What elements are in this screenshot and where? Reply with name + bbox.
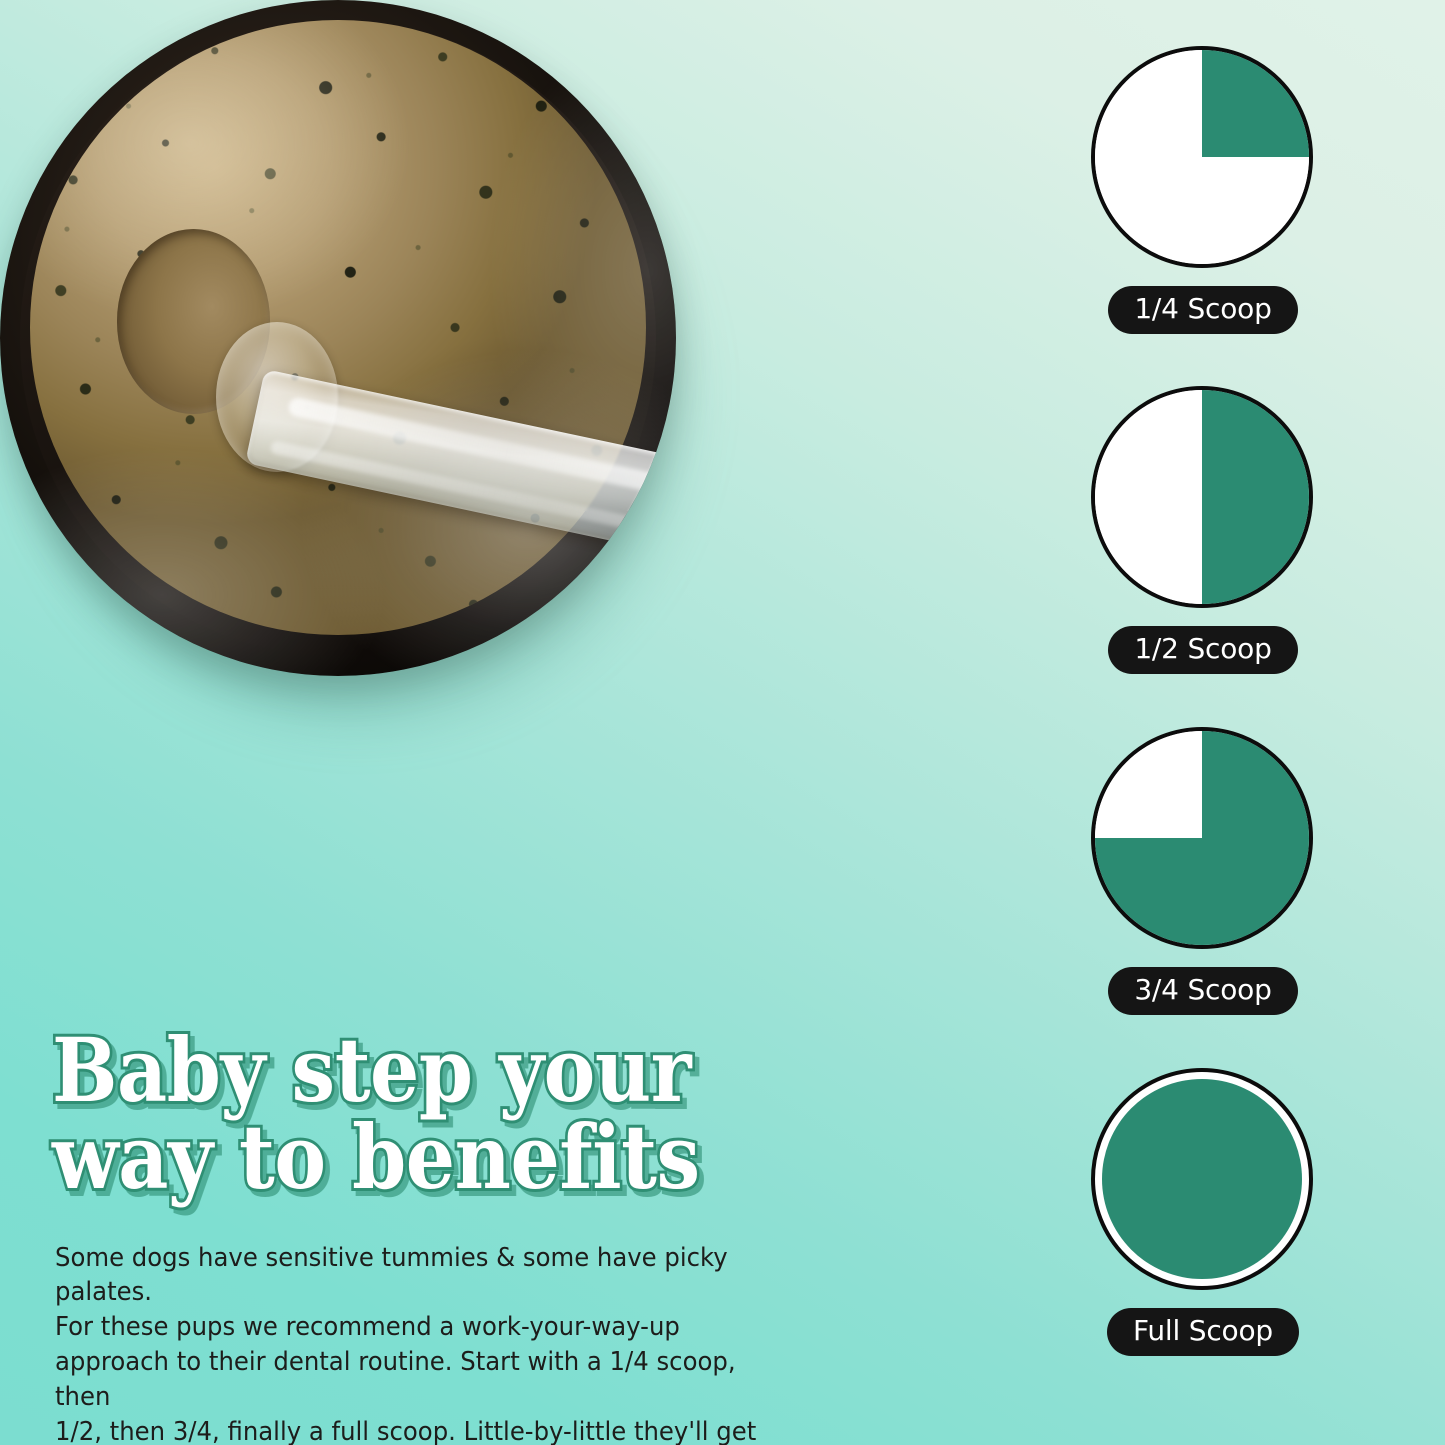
scoop-label-full: Full Scoop [1107, 1308, 1299, 1356]
infographic-canvas: Baby step your way to benefits Some dogs… [0, 0, 1445, 1445]
pie-fill-three-quarter [1095, 731, 1309, 945]
pie-fill-half [1095, 390, 1309, 604]
product-photo [0, 0, 880, 820]
body-paragraph: Some dogs have sensitive tummies & some … [55, 1241, 781, 1445]
pie-fill-full [1102, 1079, 1302, 1279]
scoop-gauge-quarter: 1/4 Scoop [1073, 46, 1333, 334]
pie-dial-full [1091, 1068, 1313, 1290]
jar-rim-highlight [0, 0, 676, 676]
scoop-label-half: 1/2 Scoop [1108, 626, 1297, 674]
powder-jar [0, 0, 676, 676]
scoop-gauge-half: 1/2 Scoop [1073, 386, 1333, 674]
scoop-dosage-chart: 1/4 Scoop 1/2 Scoop 3/4 Scoop Full Scoop [1073, 46, 1333, 1406]
scoop-gauge-three-quarter: 3/4 Scoop [1073, 727, 1333, 1015]
pie-fill-quarter [1095, 50, 1309, 264]
scoop-gauge-full: Full Scoop [1073, 1068, 1333, 1356]
page-title: Baby step your way to benefits [52, 1027, 774, 1201]
pie-dial-half [1091, 386, 1313, 608]
pie-dial-quarter [1091, 46, 1313, 268]
scoop-label-three-quarter: 3/4 Scoop [1108, 967, 1297, 1015]
scoop-label-quarter: 1/4 Scoop [1108, 286, 1297, 334]
pie-dial-three-quarter [1091, 727, 1313, 949]
